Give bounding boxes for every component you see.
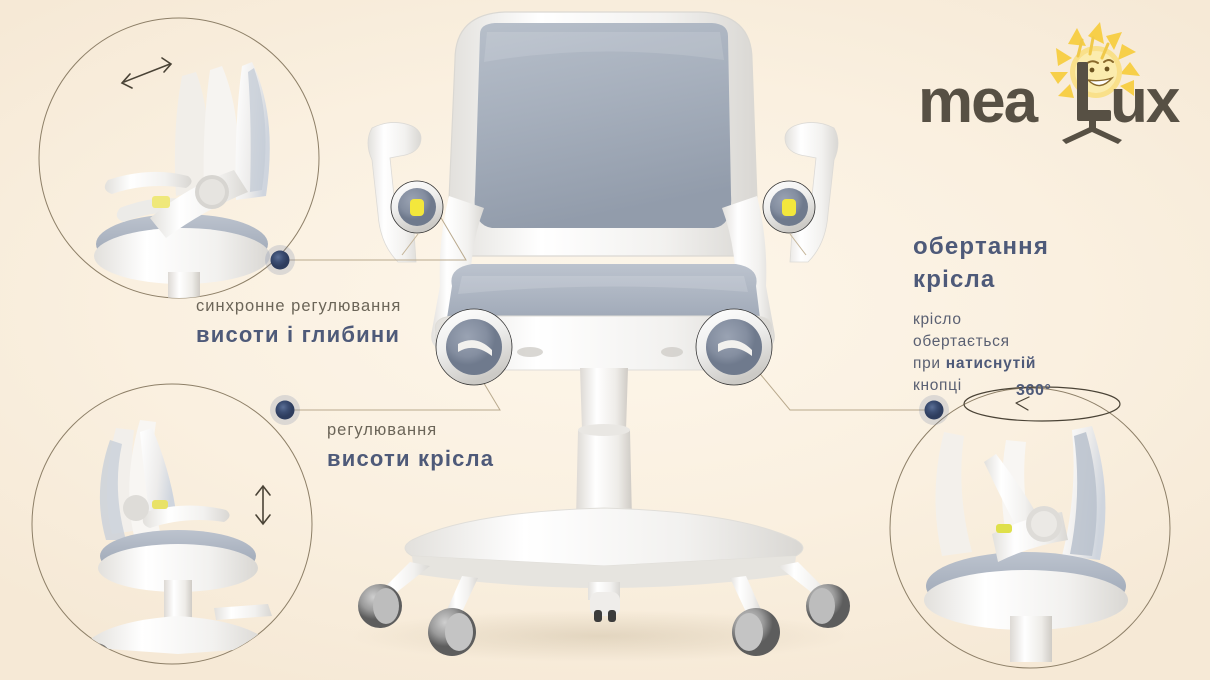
main-chair-illustration bbox=[350, 12, 850, 662]
highlight-armrest-button-right bbox=[763, 181, 815, 233]
highlight-seat-lever-left bbox=[436, 309, 512, 385]
callout-rotate-body-line3: при натиснутій bbox=[913, 353, 1098, 375]
callout-height: регулювання висоти крісла bbox=[327, 420, 494, 473]
callout-rotate-body-line1: крісло bbox=[913, 309, 1098, 331]
callout-height-title: висоти крісла bbox=[327, 445, 494, 474]
brand-text-part2: ux bbox=[1110, 67, 1181, 136]
highlight-armrest-button-left bbox=[391, 181, 443, 233]
callout-rotate-body-line2: обертається bbox=[913, 331, 1098, 353]
connector-dot-height[interactable] bbox=[270, 395, 300, 425]
highlight-seat-lever-right bbox=[696, 309, 772, 385]
callout-rotate: обертання крісла крісло обертається при … bbox=[913, 228, 1098, 397]
brand-logo[interactable]: mea ux bbox=[918, 22, 1181, 144]
connector-dot-depth[interactable] bbox=[265, 245, 295, 275]
body-line3-plain: при bbox=[913, 355, 946, 372]
infographic-canvas: mea ux синхронне регулювання висоти і гл… bbox=[0, 0, 1210, 680]
brand-text-part1: mea bbox=[918, 67, 1039, 136]
callout-rotate-body: крісло обертається при натиснутій кнопці bbox=[913, 309, 1098, 397]
detail-circle-height bbox=[32, 384, 312, 673]
connector-dot-rotate[interactable] bbox=[919, 395, 949, 425]
connector-line-rotate bbox=[752, 364, 926, 410]
degrees-label: 360° bbox=[1016, 382, 1052, 400]
callout-height-subtitle: регулювання bbox=[327, 420, 494, 441]
callout-rotate-title-2: крісла bbox=[913, 265, 1098, 294]
callout-rotate-body-line4: кнопці bbox=[913, 375, 1098, 397]
double-arrow-horizontal-icon bbox=[122, 58, 171, 88]
callout-depth-subtitle: синхронне регулювання bbox=[196, 296, 401, 317]
detail-circle-rotation bbox=[890, 387, 1170, 668]
callout-rotate-title-1: обертання bbox=[913, 232, 1098, 261]
callout-depth-title: висоти і глибини bbox=[196, 321, 401, 350]
callout-depth: синхронне регулювання висоти і глибини bbox=[196, 296, 401, 349]
double-arrow-vertical-icon bbox=[256, 486, 270, 524]
body-line3-bold: натиснутій bbox=[946, 355, 1036, 372]
